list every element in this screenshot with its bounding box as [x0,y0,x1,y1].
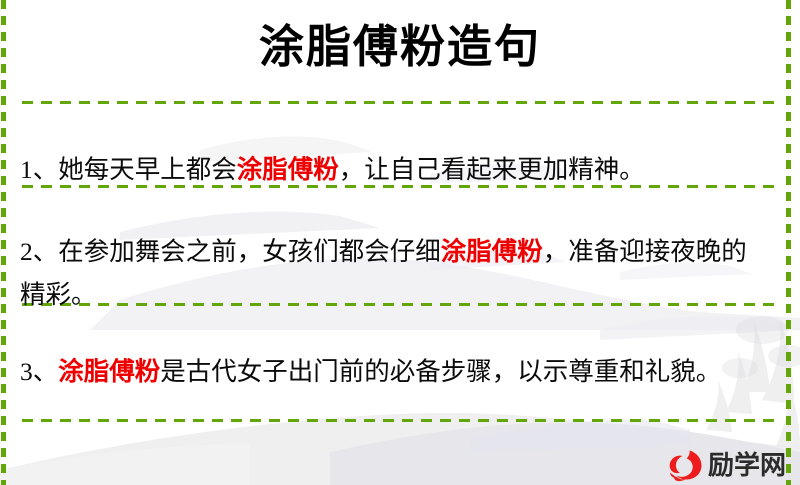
red-swirl-flame-icon [668,448,704,482]
example-sentence-1: 1、她每天早上都会涂脂傅粉，让自己看起来更加精神。 [20,148,772,191]
sentence-index: 3、 [20,357,58,386]
page-title: 涂脂傅粉造句 [0,16,800,78]
example-sentence-3: 3、涂脂傅粉是古代女子出门前的必备步骤，以示尊重和礼貌。 [20,350,772,393]
divider-bottom [22,419,782,422]
highlighted-idiom: 涂脂傅粉 [237,155,339,184]
example-sentence-2: 2、在参加舞会之前，女孩们都会仔细涂脂傅粉，准备迎接夜晚的精彩。 [20,230,772,316]
left-dashed-border [1,0,6,485]
worksheet-page: 涂脂傅粉造句 1、她每天早上都会涂脂傅粉，让自己看起来更加精神。 2、在参加舞会… [0,0,800,485]
site-logo-text: 励学网 [708,450,786,480]
page-content: 涂脂傅粉造句 1、她每天早上都会涂脂傅粉，让自己看起来更加精神。 2、在参加舞会… [0,0,800,485]
site-logo: 励学网 [668,446,786,484]
right-dashed-border [786,0,791,485]
sentence-index: 1、 [20,155,58,184]
sentence-index: 2、 [20,237,58,266]
highlighted-idiom: 涂脂傅粉 [58,357,160,386]
sentence-text-before: 她每天早上都会 [58,155,237,184]
sentence-text-before: 在参加舞会之前，女孩们都会仔细 [58,237,441,266]
sentence-text-after: ，让自己看起来更加精神。 [339,155,645,184]
highlighted-idiom: 涂脂傅粉 [441,237,543,266]
sentence-text-after: 是古代女子出门前的必备步骤，以示尊重和礼貌。 [160,357,721,386]
divider-top [22,101,782,104]
